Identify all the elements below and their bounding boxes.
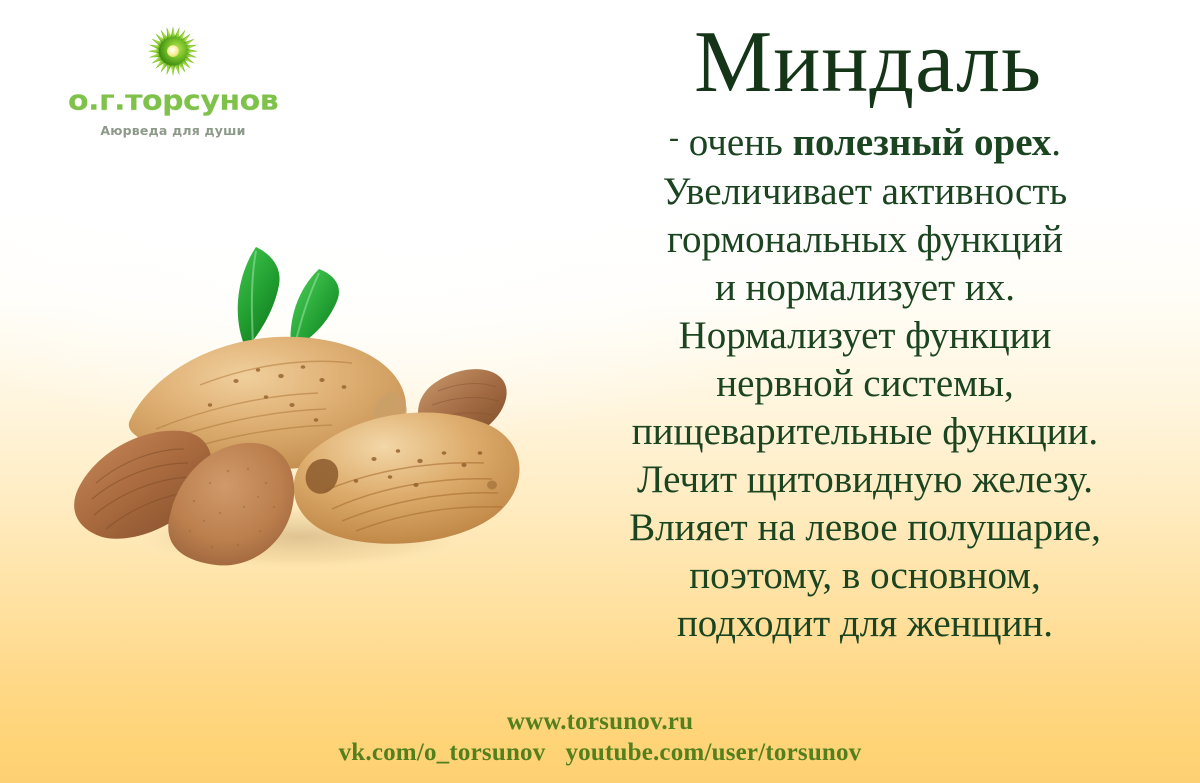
page-title: Миндаль (535, 18, 1195, 108)
body-line: подходит для женщин. (535, 600, 1195, 648)
text-column: Миндаль - очень полезный орех. Увеличива… (535, 18, 1195, 648)
green-flower-icon (142, 22, 204, 84)
body-line: Лечит щитовидную железу. (535, 456, 1195, 504)
lede-bold: полезный орех (793, 121, 1052, 164)
body-line: Нормализует функции (535, 312, 1195, 360)
logo-wordmark: о.г.торсунов (68, 87, 278, 115)
footer-social-line: vk.com/o_torsunovyoutube.com/user/torsun… (0, 737, 1200, 769)
logo-tagline: Аюрведа для души (68, 123, 278, 138)
vk-link[interactable]: vk.com/o_torsunov (339, 739, 546, 766)
website-link[interactable]: www.torsunov.ru (507, 708, 693, 735)
lede-normal: очень (679, 121, 793, 164)
body-line: пищеварительные функции. (535, 408, 1195, 456)
footer-links: www.torsunov.ru vk.com/o_torsunovyoutube… (0, 707, 1200, 769)
brand-logo[interactable]: о.г.торсунов Аюрведа для души (68, 22, 278, 138)
youtube-link[interactable]: youtube.com/user/torsunov (565, 739, 861, 766)
body-line: Увеличивает активность (535, 168, 1195, 216)
body-line: гормональных функций (535, 216, 1195, 264)
poster-canvas: о.г.торсунов Аюрведа для души (0, 0, 1200, 783)
body-line: нервной системы, (535, 360, 1195, 408)
footer-website-line: www.torsunov.ru (0, 707, 1200, 737)
body-line: и нормализует их. (535, 264, 1195, 312)
body-line: Влияет на левое полушарие, (535, 504, 1195, 552)
body-line: поэтому, в основном, (535, 552, 1195, 600)
lede-dash: - (669, 121, 679, 154)
almond-photo (60, 215, 540, 585)
lede-sentence: - очень полезный орех. (535, 114, 1195, 167)
lede-tail: . (1051, 121, 1061, 164)
green-leaves (238, 247, 339, 349)
